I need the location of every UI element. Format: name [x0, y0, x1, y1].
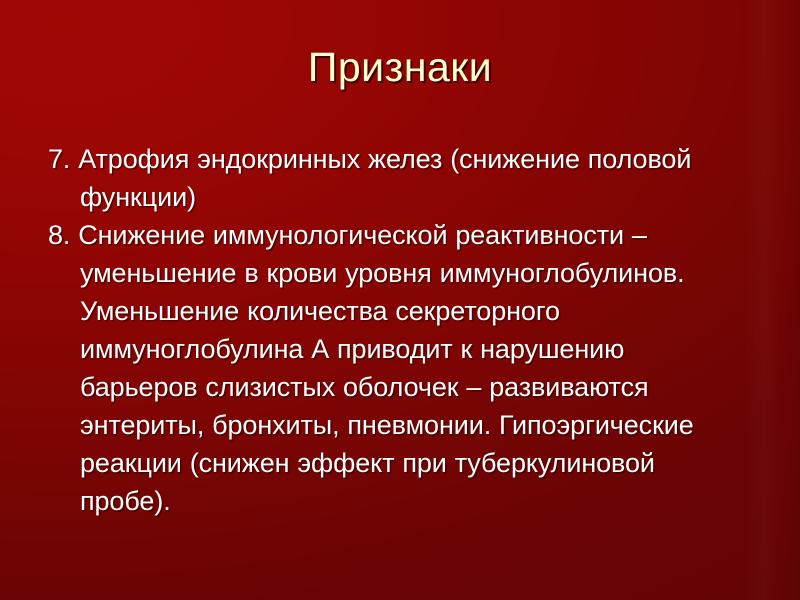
slide-body-list: 7. Атрофия эндокринных желез (снижение п… — [48, 140, 738, 520]
list-item: 8. Снижение иммунологической реактивност… — [48, 216, 738, 520]
presentation-slide: Признаки 7. Атрофия эндокринных желез (с… — [0, 0, 800, 600]
list-item: 7. Атрофия эндокринных желез (снижение п… — [48, 140, 738, 216]
page-title: Признаки — [0, 42, 800, 92]
